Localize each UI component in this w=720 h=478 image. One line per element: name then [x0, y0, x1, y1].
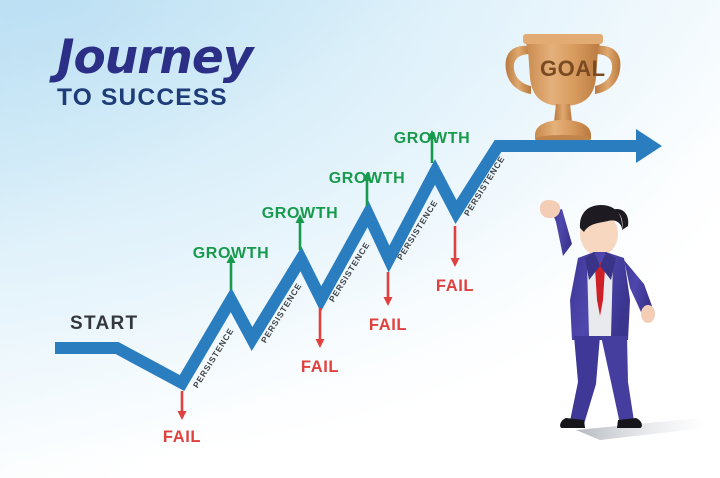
fail-label-1: FAIL [163, 428, 201, 447]
growth-label-1: GROWTH [193, 245, 269, 263]
growth-label-3: GROWTH [329, 170, 405, 188]
growth-label-2: GROWTH [262, 205, 338, 223]
growth-label-4: GROWTH [394, 130, 470, 148]
fail-label-4: FAIL [436, 277, 474, 296]
journey-arrow-head [636, 129, 662, 163]
infographic-canvas: Journey TO SUCCESS GOAL [0, 0, 720, 478]
start-label: START [70, 313, 138, 335]
journey-line-chart [0, 0, 720, 478]
fail-label-2: FAIL [301, 358, 339, 377]
fail-label-3: FAIL [369, 316, 407, 335]
